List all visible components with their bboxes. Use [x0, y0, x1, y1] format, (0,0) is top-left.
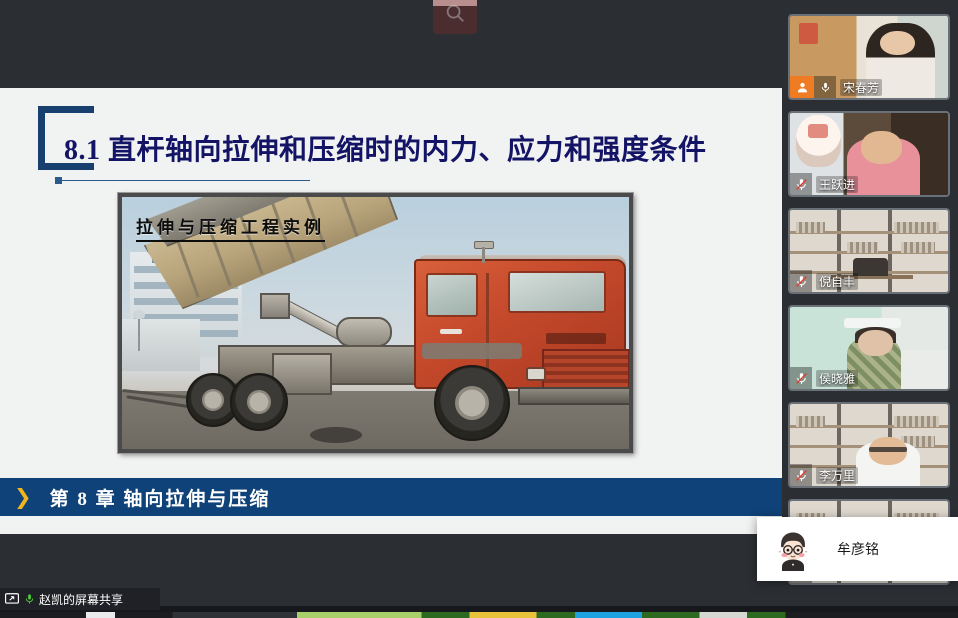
participant-name: 李万里 — [816, 467, 858, 484]
title-rule — [58, 180, 310, 181]
dump-truck-photo: 拉伸与压缩工程实例 — [122, 197, 629, 449]
participant-name: 倪自丰 — [816, 273, 858, 290]
presentation-slide: 8.1 直杆轴向拉伸和压缩时的内力、应力和强度条件 — [0, 88, 782, 534]
host-person-icon — [790, 76, 814, 98]
microphone-muted-icon — [790, 464, 812, 486]
participant-name: 侯晓雅 — [816, 370, 858, 387]
truck-grille — [542, 349, 629, 389]
participant-tile[interactable]: 王跃进 — [788, 111, 950, 197]
photo-caption: 拉伸与压缩工程实例 — [136, 213, 325, 242]
truck-wheel — [230, 373, 288, 431]
cartoon-boy-avatar-icon — [771, 527, 815, 571]
participant-name: 宋春芳 — [840, 79, 882, 96]
conference-window: 8.1 直杆轴向拉伸和压缩时的内力、应力和强度条件 — [0, 0, 958, 618]
truck-window-rear — [426, 273, 478, 317]
participant-name: 王跃进 — [816, 176, 858, 193]
participant-tile[interactable]: 倪自丰 — [788, 208, 950, 294]
participant-tile[interactable]: 李万里 — [788, 402, 950, 488]
microphone-muted-icon — [790, 173, 812, 195]
screen-share-icon — [5, 593, 19, 605]
microphone-icon — [814, 76, 836, 98]
participant-name-row: 王跃进 — [790, 173, 864, 195]
participant-name-row: 宋春芳 — [790, 76, 888, 98]
participant-tile[interactable]: 侯晓雅 — [788, 305, 950, 391]
truck-hydraulic-mount — [260, 293, 290, 319]
tooltip-participant-name: 牟彦铭 — [837, 539, 879, 559]
page-title: 8.1 直杆轴向拉伸和压缩时的内力、应力和强度条件 — [64, 128, 707, 168]
truck-mirror-arm — [482, 247, 485, 263]
slide-footer-text: 第 8 章 轴向拉伸与压缩 — [50, 484, 271, 511]
shared-screen-area[interactable]: 8.1 直杆轴向拉伸和压缩时的内力、应力和强度条件 — [0, 0, 782, 600]
microphone-muted-icon — [790, 270, 812, 292]
participant-tooltip-card: 牟彦铭 — [757, 517, 958, 581]
share-toast-text: 赵凯的屏幕共享 — [39, 591, 123, 608]
photo-lamp — [138, 317, 140, 351]
truck-door-handle — [440, 329, 462, 334]
search-icon[interactable] — [433, 0, 477, 34]
truck-headlight — [526, 367, 546, 381]
truck-brand-plate — [546, 333, 606, 344]
slide-footer-banner: ❯ 第 8 章 轴向拉伸与压缩 — [0, 478, 782, 516]
participant-tile[interactable]: 宋春芳 — [788, 14, 950, 100]
photo-hole — [310, 427, 362, 443]
microphone-muted-icon — [790, 367, 812, 389]
chevron-right-icon: ❯ — [14, 487, 32, 508]
microphone-active-icon — [24, 592, 35, 606]
screen-share-toast[interactable]: 赵凯的屏幕共享 — [0, 588, 160, 610]
truck-wheel — [434, 365, 510, 441]
participant-name-row: 李万里 — [790, 464, 864, 486]
truck-air-tank — [336, 317, 392, 347]
participant-name-row: 侯晓雅 — [790, 367, 864, 389]
taskbar-icons-strip[interactable] — [0, 612, 958, 618]
participant-name-row: 倪自丰 — [790, 270, 864, 292]
truck-windshield — [508, 271, 606, 313]
truck-bumper — [518, 387, 629, 405]
truck-mudguard — [422, 343, 522, 359]
slide-photo-frame: 拉伸与压缩工程实例 — [118, 193, 633, 453]
